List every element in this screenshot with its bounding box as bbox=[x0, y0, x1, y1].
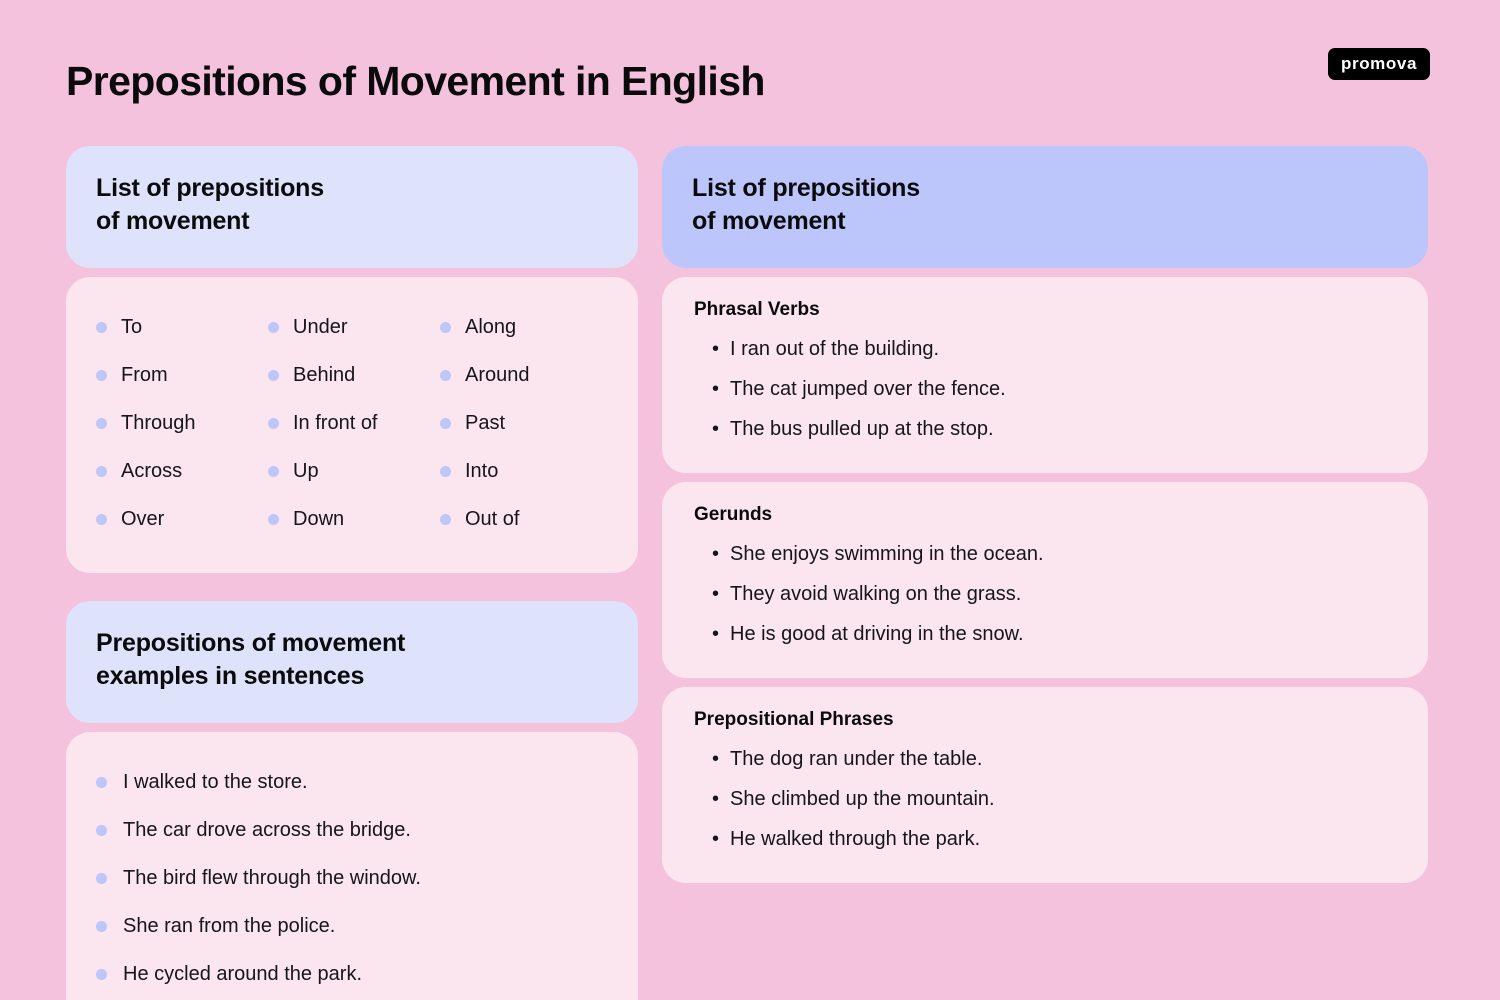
sentence-text: The bird flew through the window. bbox=[123, 867, 421, 890]
bullet-dot-icon bbox=[96, 873, 107, 884]
preposition-label: Through bbox=[121, 412, 196, 435]
bullet-dot-icon bbox=[96, 921, 107, 932]
group-title: Prepositional Phrases bbox=[694, 709, 1396, 731]
sentence-text: She ran from the police. bbox=[123, 915, 335, 938]
preposition-list-card: To Under Along From Behind Around Throug… bbox=[66, 277, 638, 573]
example-sentences-list: I walked to the store. The car drove acr… bbox=[66, 732, 638, 1000]
preposition-label: To bbox=[121, 316, 142, 339]
preposition-item: Behind bbox=[268, 351, 436, 399]
bullet-dot-icon bbox=[96, 514, 107, 525]
left-list-header-title: List of prepositions of movement bbox=[96, 172, 608, 238]
preposition-label: Down bbox=[293, 508, 344, 531]
list-item: The cat jumped over the fence. bbox=[694, 369, 1396, 409]
preposition-label: Into bbox=[465, 460, 498, 483]
list-item: The bus pulled up at the stop. bbox=[694, 409, 1396, 449]
right-list-header-card: List of prepositions of movement bbox=[662, 146, 1428, 268]
preposition-label: Across bbox=[121, 460, 182, 483]
promova-logo: promova bbox=[1328, 48, 1430, 80]
bullet-dot-icon bbox=[268, 466, 279, 477]
preposition-item: Up bbox=[268, 447, 436, 495]
preposition-item: From bbox=[96, 351, 264, 399]
preposition-label: Behind bbox=[293, 364, 355, 387]
preposition-item: Into bbox=[440, 447, 608, 495]
bullet-dot-icon bbox=[268, 370, 279, 381]
preposition-item: Through bbox=[96, 399, 264, 447]
prepositional-phrases-card: Prepositional Phrases The dog ran under … bbox=[662, 687, 1428, 883]
bullet-dot-icon bbox=[268, 322, 279, 333]
group-title: Phrasal Verbs bbox=[694, 299, 1396, 321]
bullet-dot-icon bbox=[268, 418, 279, 429]
list-item: They avoid walking on the grass. bbox=[694, 574, 1396, 614]
preposition-item: Along bbox=[440, 303, 608, 351]
left-list-header-card: List of prepositions of movement bbox=[66, 146, 638, 268]
preposition-item: Under bbox=[268, 303, 436, 351]
list-item: The bird flew through the window. bbox=[96, 854, 608, 902]
bullet-dot-icon bbox=[268, 514, 279, 525]
group-title: Gerunds bbox=[694, 504, 1396, 526]
preposition-label: Along bbox=[465, 316, 516, 339]
sentence-text: The car drove across the bridge. bbox=[123, 819, 411, 842]
gerunds-card: Gerunds She enjoys swimming in the ocean… bbox=[662, 482, 1428, 678]
phrasal-verbs-list: I ran out of the building. The cat jumpe… bbox=[694, 329, 1396, 449]
preposition-item: Past bbox=[440, 399, 608, 447]
bullet-dot-icon bbox=[96, 969, 107, 980]
preposition-label: In front of bbox=[293, 412, 378, 435]
sentence-text: I walked to the store. bbox=[123, 771, 308, 794]
bullet-dot-icon bbox=[96, 466, 107, 477]
preposition-label: Past bbox=[465, 412, 505, 435]
list-item: She ran from the police. bbox=[96, 902, 608, 950]
list-item: He walked through the park. bbox=[694, 819, 1396, 859]
preposition-label: Under bbox=[293, 316, 347, 339]
preposition-label: Out of bbox=[465, 508, 519, 531]
preposition-item: Around bbox=[440, 351, 608, 399]
list-item: I ran out of the building. bbox=[694, 329, 1396, 369]
preposition-label: Around bbox=[465, 364, 530, 387]
list-item: The dog ran under the table. bbox=[694, 739, 1396, 779]
gerunds-list: She enjoys swimming in the ocean. They a… bbox=[694, 534, 1396, 654]
bullet-dot-icon bbox=[96, 777, 107, 788]
bullet-dot-icon bbox=[440, 370, 451, 381]
bullet-dot-icon bbox=[440, 322, 451, 333]
bullet-dot-icon bbox=[96, 370, 107, 381]
preposition-item: In front of bbox=[268, 399, 436, 447]
preposition-label: Over bbox=[121, 508, 164, 531]
bullet-dot-icon bbox=[440, 514, 451, 525]
bullet-dot-icon bbox=[96, 825, 107, 836]
bullet-dot-icon bbox=[440, 466, 451, 477]
right-list-header-title: List of prepositions of movement bbox=[692, 172, 1398, 238]
preposition-item: Out of bbox=[440, 495, 608, 543]
right-column: List of prepositions of movement Phrasal… bbox=[662, 146, 1428, 1000]
list-item: She enjoys swimming in the ocean. bbox=[694, 534, 1396, 574]
phrasal-verbs-card: Phrasal Verbs I ran out of the building.… bbox=[662, 277, 1428, 473]
left-column: List of prepositions of movement To Unde… bbox=[66, 146, 638, 1000]
example-sentences-card: I walked to the store. The car drove acr… bbox=[66, 732, 638, 1000]
list-item: I walked to the store. bbox=[96, 758, 608, 806]
bullet-dot-icon bbox=[96, 418, 107, 429]
preposition-label: From bbox=[121, 364, 168, 387]
bullet-dot-icon bbox=[440, 418, 451, 429]
preposition-item: To bbox=[96, 303, 264, 351]
preposition-item: Down bbox=[268, 495, 436, 543]
preposition-grid: To Under Along From Behind Around Throug… bbox=[66, 277, 638, 573]
content-columns: List of prepositions of movement To Unde… bbox=[66, 146, 1428, 1000]
list-item: The car drove across the bridge. bbox=[96, 806, 608, 854]
prepositional-phrases-list: The dog ran under the table. She climbed… bbox=[694, 739, 1396, 859]
list-item: He cycled around the park. bbox=[96, 950, 608, 998]
infographic-page: Prepositions of Movement in English prom… bbox=[0, 0, 1500, 1000]
preposition-label: Up bbox=[293, 460, 319, 483]
list-item: He is good at driving in the snow. bbox=[694, 614, 1396, 654]
bullet-dot-icon bbox=[96, 322, 107, 333]
left-examples-header-title: Prepositions of movement examples in sen… bbox=[96, 627, 608, 693]
preposition-item: Over bbox=[96, 495, 264, 543]
preposition-item: Across bbox=[96, 447, 264, 495]
left-examples-header-card: Prepositions of movement examples in sen… bbox=[66, 601, 638, 723]
page-title: Prepositions of Movement in English bbox=[66, 58, 765, 105]
sentence-text: He cycled around the park. bbox=[123, 963, 362, 986]
list-item: She climbed up the mountain. bbox=[694, 779, 1396, 819]
